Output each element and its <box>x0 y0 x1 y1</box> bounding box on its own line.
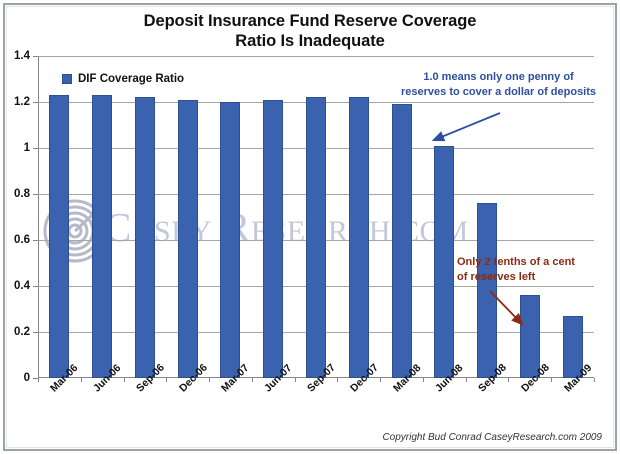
chart-legend: DIF Coverage Ratio <box>62 73 184 85</box>
bar-mar-08[interactable] <box>392 104 412 378</box>
x-axis-tick <box>252 378 253 382</box>
bar-sep-08[interactable] <box>477 203 497 378</box>
chart-title-line2: Ratio Is Inadequate <box>0 31 620 51</box>
x-axis-tick <box>508 378 509 382</box>
y-axis-tick <box>33 56 38 57</box>
legend-label-dif-coverage-ratio: DIF Coverage Ratio <box>78 73 184 85</box>
bar-dec-06[interactable] <box>178 100 198 378</box>
x-axis-tick <box>551 378 552 382</box>
bar-sep-06[interactable] <box>135 97 155 378</box>
bar-mar-07[interactable] <box>220 102 240 378</box>
x-axis-tick <box>81 378 82 382</box>
bar-jun-06[interactable] <box>92 95 112 378</box>
bar-mar-06[interactable] <box>49 95 69 378</box>
y-axis-label: 1.2 <box>14 96 30 108</box>
y-axis-tick <box>33 194 38 195</box>
bar-sep-07[interactable] <box>306 97 326 378</box>
annotation-blue-note: 1.0 means only one penny of reserves to … <box>401 70 596 100</box>
y-axis-label: 0.6 <box>14 234 30 246</box>
bar-dec-08[interactable] <box>520 295 540 378</box>
chart-title-line1: Deposit Insurance Fund Reserve Coverage <box>144 12 477 30</box>
y-axis-label: 0.4 <box>14 280 30 292</box>
y-axis-tick <box>33 286 38 287</box>
chart-container: Deposit Insurance Fund Reserve Coverage … <box>0 0 620 454</box>
y-axis-label: 0.8 <box>14 188 30 200</box>
legend-swatch-dif-coverage-ratio <box>62 74 72 84</box>
y-axis-tick <box>33 240 38 241</box>
x-axis-tick <box>337 378 338 382</box>
y-axis-line <box>38 56 39 378</box>
annotation-blue-line2: reserves to cover a dollar of deposits <box>401 85 596 100</box>
y-axis-label: 1 <box>24 142 30 154</box>
y-axis-label: 1.4 <box>14 50 30 62</box>
y-axis-tick <box>33 332 38 333</box>
copyright-text: Copyright Bud Conrad CaseyResearch.com 2… <box>382 432 602 443</box>
y-axis-label: 0.2 <box>14 326 30 338</box>
plot-area: 00.20.40.60.811.21.4Mar-06Jun-06Sep-06De… <box>38 56 594 378</box>
x-axis-tick <box>124 378 125 382</box>
x-axis-tick <box>380 378 381 382</box>
bar-jun-07[interactable] <box>263 100 283 378</box>
x-axis-tick <box>295 378 296 382</box>
y-axis-tick <box>33 102 38 103</box>
x-axis-tick <box>423 378 424 382</box>
annotation-red-line1: Only 2 tenths of a cent <box>457 255 575 270</box>
x-axis-tick <box>466 378 467 382</box>
annotation-blue-line1: 1.0 means only one penny of <box>401 70 596 85</box>
bar-jun-08[interactable] <box>434 146 454 378</box>
x-axis-tick <box>166 378 167 382</box>
chart-title: Deposit Insurance Fund Reserve Coverage … <box>0 11 620 51</box>
x-axis-tick <box>38 378 39 382</box>
x-axis-tick <box>209 378 210 382</box>
annotation-red-note: Only 2 tenths of a cent of reserves left <box>457 255 575 285</box>
gridline <box>38 56 594 57</box>
y-axis-tick <box>33 148 38 149</box>
x-axis-tick <box>594 378 595 382</box>
y-axis-label: 0 <box>24 372 30 384</box>
annotation-red-line2: of reserves left <box>457 270 575 285</box>
bar-dec-07[interactable] <box>349 97 369 378</box>
